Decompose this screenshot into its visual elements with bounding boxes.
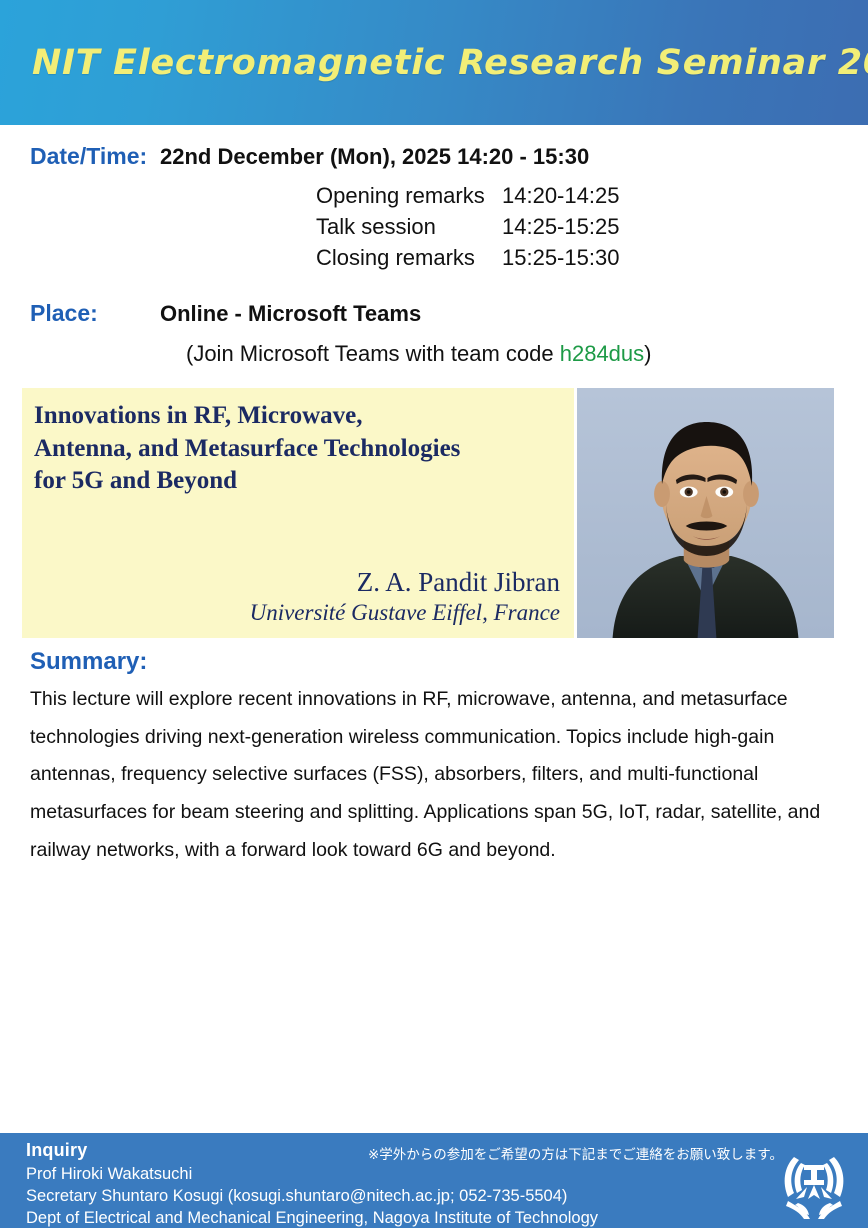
team-code: h284dus xyxy=(560,341,644,366)
teams-join-suffix: ) xyxy=(644,341,651,366)
speaker-name: Z. A. Pandit Jibran xyxy=(34,566,560,598)
talk-title-line-3: for 5G and Beyond xyxy=(34,465,560,498)
nit-emblem-logo xyxy=(774,1143,854,1221)
place-row: Place: Online - Microsoft Teams xyxy=(0,300,868,327)
header-banner: NIT Electromagnetic Research Seminar 202… xyxy=(0,0,868,125)
schedule-item-name: Talk session xyxy=(316,211,502,242)
place-label: Place: xyxy=(0,300,160,327)
datetime-label: Date/Time: xyxy=(0,143,160,170)
talk-highlight-box: Innovations in RF, Microwave, Antenna, a… xyxy=(22,388,834,638)
summary-text: This lecture will explore recent innovat… xyxy=(30,681,850,869)
info-section: Date/Time: 22nd December (Mon), 2025 14:… xyxy=(0,125,868,367)
talk-title-line-2: Antenna, and Metasurface Technologies xyxy=(34,433,560,466)
schedule-item-time: 15:25-15:30 xyxy=(502,242,619,273)
teams-join-note: (Join Microsoft Teams with team code h28… xyxy=(186,341,868,367)
datetime-row: Date/Time: 22nd December (Mon), 2025 14:… xyxy=(0,143,868,170)
schedule-item: Talk session 14:25-15:25 xyxy=(316,211,868,242)
schedule-item: Opening remarks 14:20-14:25 xyxy=(316,180,868,211)
datetime-value: 22nd December (Mon), 2025 14:20 - 15:30 xyxy=(160,144,589,170)
speaker-portrait xyxy=(574,388,834,638)
schedule-list: Opening remarks 14:20-14:25 Talk session… xyxy=(316,180,868,274)
contact-department: Dept of Electrical and Mechanical Engine… xyxy=(26,1209,598,1228)
talk-title: Innovations in RF, Microwave, Antenna, a… xyxy=(34,400,560,498)
speaker-block: Z. A. Pandit Jibran Université Gustave E… xyxy=(34,566,560,628)
schedule-item-time: 14:25-15:25 xyxy=(502,211,619,242)
summary-heading: Summary: xyxy=(30,648,147,676)
schedule-item: Closing remarks 15:25-15:30 xyxy=(316,242,868,273)
seminar-poster: NIT Electromagnetic Research Seminar 202… xyxy=(0,0,868,1228)
page-title: NIT Electromagnetic Research Seminar 202… xyxy=(32,43,868,83)
inquiry-heading: Inquiry xyxy=(26,1140,87,1161)
footer-bar: Inquiry ※学外からの参加をご希望の方は下記までご連絡をお願い致します。 … xyxy=(0,1133,868,1228)
contact-professor: Prof Hiroki Wakatsuchi xyxy=(26,1165,192,1184)
schedule-item-name: Closing remarks xyxy=(316,242,502,273)
schedule-item-name: Opening remarks xyxy=(316,180,502,211)
talk-title-line-1: Innovations in RF, Microwave, xyxy=(34,400,560,433)
image-gallery xyxy=(0,858,868,1130)
place-value: Online - Microsoft Teams xyxy=(160,301,421,327)
contact-secretary: Secretary Shuntaro Kosugi (kosugi.shunta… xyxy=(26,1187,567,1206)
talk-details: Innovations in RF, Microwave, Antenna, a… xyxy=(22,388,574,638)
schedule-item-time: 14:20-14:25 xyxy=(502,180,619,211)
speaker-affiliation: Université Gustave Eiffel, France xyxy=(34,599,560,628)
teams-join-prefix: (Join Microsoft Teams with team code xyxy=(186,341,560,366)
japanese-note: ※学外からの参加をご希望の方は下記までご連絡をお願い致します。 xyxy=(368,1143,783,1163)
